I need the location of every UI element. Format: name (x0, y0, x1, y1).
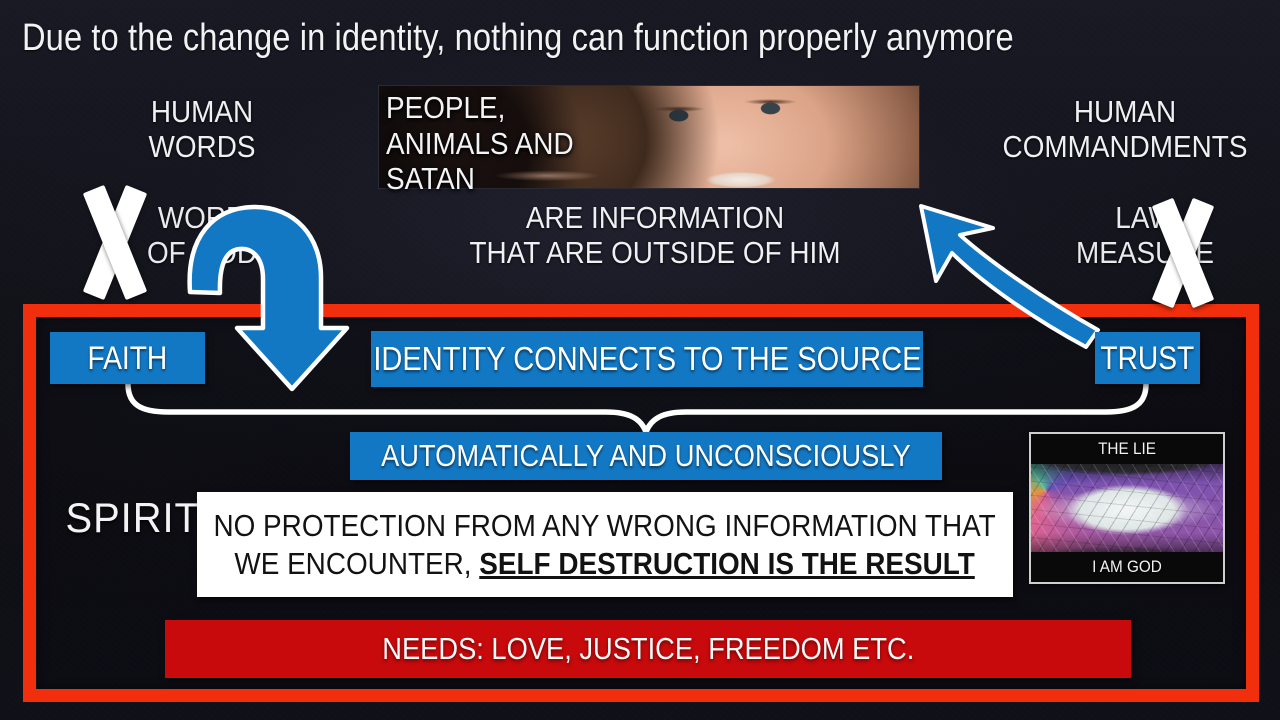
warning-line2: WE ENCOUNTER, SELF DESTRUCTION IS THE RE… (214, 545, 996, 582)
photo-overlay-text: PEOPLE, ANIMALS AND SATAN (386, 90, 656, 197)
left-heading-line1: HUMAN (103, 94, 301, 129)
warning-line2-emphasis: SELF DESTRUCTION IS THE RESULT (480, 546, 976, 581)
center-subtext-line1: ARE INFORMATION (439, 200, 871, 235)
needs-bar: NEEDS: LOVE, JUSTICE, FREEDOM ETC. (165, 620, 1131, 678)
identity-box[interactable]: IDENTITY CONNECTS TO THE SOURCE (371, 331, 923, 387)
page-title: Due to the change in identity, nothing c… (22, 19, 1037, 59)
photo-overlay-line1: PEOPLE, (386, 90, 656, 126)
the-lie-card: THE LIE I AM GOD (1029, 432, 1225, 584)
left-heading-line2: WORDS (103, 129, 301, 164)
center-subtext: ARE INFORMATION THAT ARE OUTSIDE OF HIM (439, 200, 871, 271)
trust-box[interactable]: TRUST (1095, 332, 1200, 384)
warning-box: NO PROTECTION FROM ANY WRONG INFORMATION… (197, 492, 1013, 597)
x-mark-icon-right (1140, 198, 1226, 308)
automatic-label: AUTOMATICALLY AND UNCONSCIOUSLY (381, 438, 911, 474)
trust-label: TRUST (1101, 340, 1195, 377)
needs-label: NEEDS: LOVE, JUSTICE, FREEDOM ETC. (382, 631, 914, 667)
faith-box[interactable]: FAITH (50, 332, 205, 384)
mosaic-eye-image (1031, 464, 1223, 552)
right-heading-line1: HUMAN (990, 94, 1260, 129)
identity-label: IDENTITY CONNECTS TO THE SOURCE (373, 340, 921, 378)
center-subtext-line2: THAT ARE OUTSIDE OF HIM (439, 235, 871, 270)
the-lie-bottom-label: I AM GOD (1041, 552, 1214, 582)
the-lie-top-label: THE LIE (1041, 434, 1214, 464)
right-heading-line2: COMMANDMENTS (990, 129, 1260, 164)
right-heading: HUMAN COMMANDMENTS (990, 94, 1260, 165)
warning-line2-prefix: WE ENCOUNTER, (235, 546, 480, 581)
spirit-label: SPIRIT (66, 494, 200, 542)
photo-overlay-line2: ANIMALS AND SATAN (386, 126, 656, 197)
left-heading: HUMAN WORDS (103, 94, 301, 165)
warning-line1: NO PROTECTION FROM ANY WRONG INFORMATION… (214, 507, 996, 544)
faith-label: FAITH (88, 340, 168, 377)
slide-canvas: Due to the change in identity, nothing c… (0, 0, 1280, 720)
automatic-box[interactable]: AUTOMATICALLY AND UNCONSCIOUSLY (350, 432, 942, 480)
x-mark-icon-left (70, 185, 160, 300)
